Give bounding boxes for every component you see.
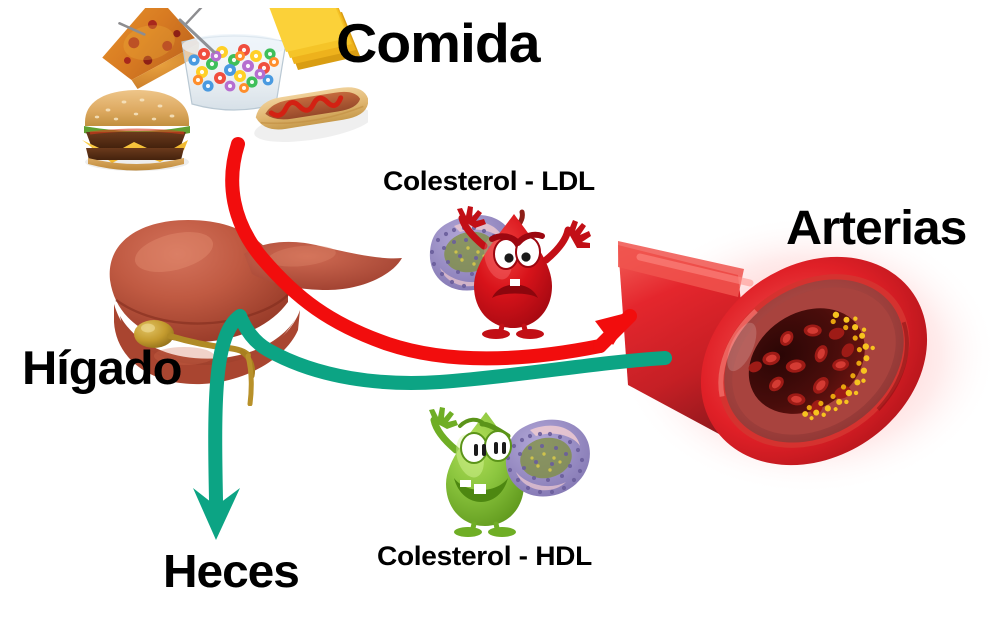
label-comida: Comida [336,16,540,71]
label-arterias: Arterias [786,205,966,253]
cereal-bowl-icon [180,20,286,110]
label-heces: Heces [163,548,299,594]
hdl-droplet-illustration [408,398,608,548]
label-higado: Hígado [22,344,181,391]
hdl-character [408,398,608,548]
ldl-droplet-illustration [418,206,608,351]
cheeseburger-icon [82,90,190,171]
label-colesterol-ldl: Colesterol - LDL [383,168,595,195]
food-illustration [78,8,368,173]
cholesterol-diagram: Comida Arterias Hígado Heces Colesterol … [0,0,993,630]
hdl-left-arm [429,407,458,450]
ldl-right-arm [546,220,591,260]
label-colesterol-hdl: Colesterol - HDL [377,543,592,570]
ldl-character [418,206,608,351]
food-group [78,8,368,173]
